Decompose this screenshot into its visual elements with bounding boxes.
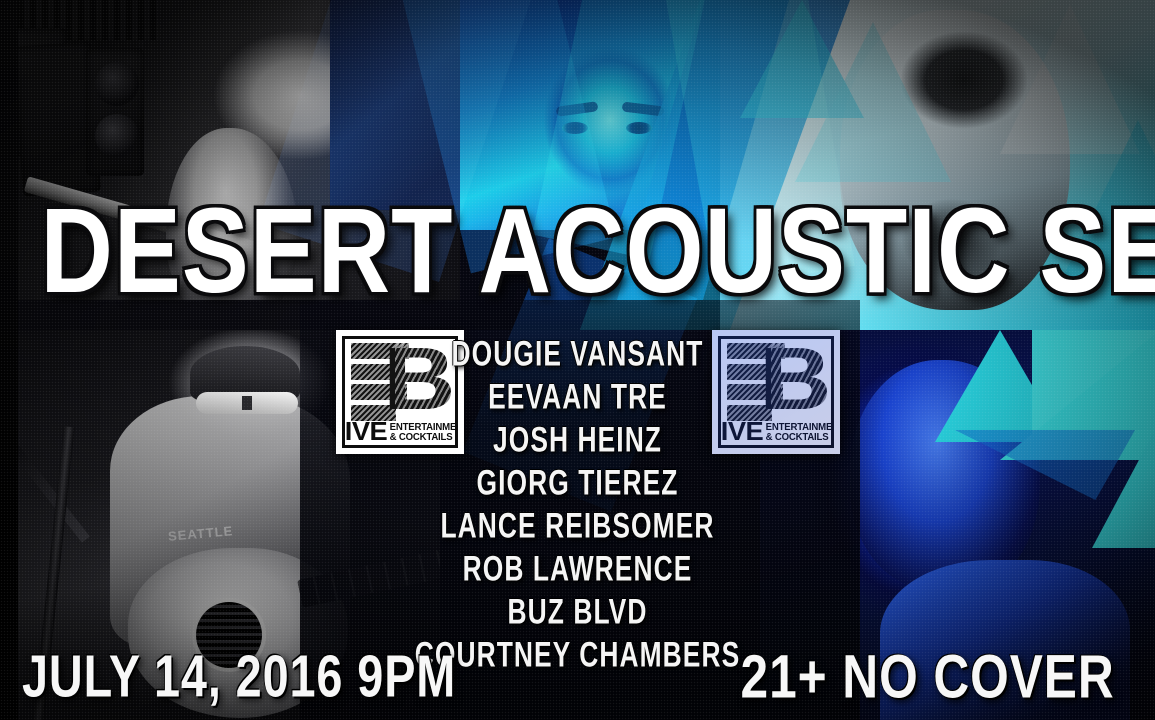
event-title: DESERT ACOUSTIC SESSIONS bbox=[40, 190, 1114, 311]
event-poster: SEATTLE DESERT ACOUSTIC SESSIONS bbox=[0, 0, 1155, 720]
poster-foreground: DESERT ACOUSTIC SESSIONS B LIVE ENTERTAI… bbox=[0, 0, 1155, 720]
artist-lineup-list: DOUGIE VANSANTEEVAAN TREJOSH HEINZGIORG … bbox=[0, 333, 1155, 677]
event-date-time: JULY 14, 2016 9PM bbox=[22, 644, 456, 710]
admission-info: 21+ NO COVER bbox=[741, 644, 1115, 710]
